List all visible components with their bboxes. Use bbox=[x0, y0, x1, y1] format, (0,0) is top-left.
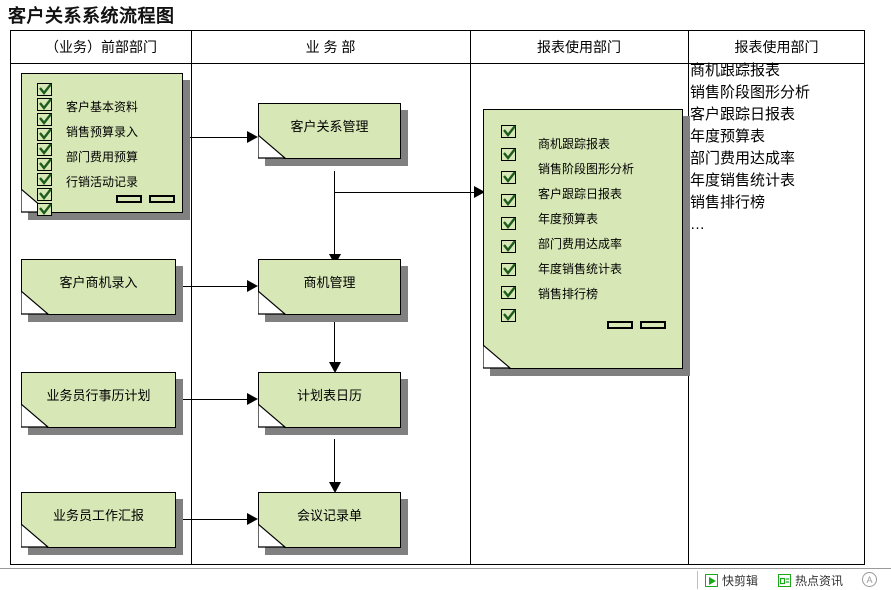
checkbox-checked[interactable] bbox=[37, 83, 52, 96]
report-item-label: 销售阶段图形分析 bbox=[538, 160, 634, 177]
report-list-column: 商机跟踪报表 销售阶段图形分析 客户跟踪日报表 年度预算表 部门费用达成率 年度… bbox=[690, 60, 810, 236]
arrowhead-icon bbox=[247, 131, 258, 143]
checkbox-checked[interactable] bbox=[501, 125, 516, 138]
report-item-label: 商机跟踪报表 bbox=[538, 135, 610, 152]
column-header-front-department: （业务）前部部门 bbox=[11, 31, 191, 63]
document-customer-relationship-management[interactable]: 客户关系管理 bbox=[258, 103, 401, 159]
circle-info-icon: A bbox=[862, 572, 877, 587]
document-mini-button[interactable] bbox=[607, 321, 633, 329]
checkbox-checked[interactable] bbox=[501, 217, 516, 230]
document-meeting-record[interactable]: 会议记录单 bbox=[258, 492, 401, 548]
document-button-group bbox=[607, 321, 666, 329]
document-label: 会议记录单 bbox=[258, 505, 401, 524]
checkbox-checked[interactable] bbox=[37, 173, 52, 186]
report-list-item: 商机跟踪报表 bbox=[690, 60, 810, 82]
taskbar-item-info[interactable]: A bbox=[862, 572, 881, 587]
connector-line bbox=[183, 399, 248, 400]
document-salesperson-calendar-plan[interactable]: 业务员行事历计划 bbox=[21, 372, 176, 428]
report-item-label: 年度预算表 bbox=[538, 210, 598, 227]
checkbox-checked[interactable] bbox=[37, 98, 52, 111]
document-opportunity-management[interactable]: 商机管理 bbox=[258, 259, 401, 315]
report-list-item: 销售阶段图形分析 bbox=[690, 82, 810, 104]
column-header-report-department-2: 报表使用部门 bbox=[688, 31, 865, 63]
arrowhead-icon bbox=[247, 280, 258, 292]
connector-line bbox=[334, 192, 483, 193]
column-divider-1 bbox=[191, 31, 192, 564]
taskbar: 快剪辑 热点资讯 A bbox=[0, 568, 891, 590]
report-list-item: 部门费用达成率 bbox=[690, 148, 810, 170]
news-icon bbox=[778, 574, 791, 587]
document-salesperson-work-report[interactable]: 业务员工作汇报 bbox=[21, 492, 176, 548]
document-button-group bbox=[116, 195, 175, 203]
checkbox-checked[interactable] bbox=[37, 188, 52, 201]
connector-line bbox=[183, 137, 248, 138]
checkbox-checked[interactable] bbox=[37, 128, 52, 141]
arrowhead-icon bbox=[247, 513, 258, 525]
taskbar-separator bbox=[697, 571, 698, 589]
checkbox-checked[interactable] bbox=[501, 240, 516, 253]
connector-line bbox=[183, 519, 248, 520]
report-item-label: 销售排行榜 bbox=[538, 285, 598, 302]
document-label: 商机管理 bbox=[258, 272, 401, 291]
checkbox-checked[interactable] bbox=[37, 203, 52, 216]
document-label: 业务员工作汇报 bbox=[21, 505, 176, 524]
checkbox-column bbox=[37, 83, 52, 218]
connector-line bbox=[334, 319, 335, 364]
connector-line bbox=[334, 439, 335, 484]
connector-line bbox=[334, 171, 335, 256]
column-divider-2 bbox=[470, 31, 471, 564]
connector-line bbox=[183, 286, 248, 287]
document-mini-button[interactable] bbox=[640, 321, 666, 329]
document-opportunity-entry[interactable]: 客户商机录入 bbox=[21, 259, 176, 315]
document-customer-data-checklist[interactable]: 客户基本资料 销售预算录入 部门费用预算 行销活动记录 bbox=[21, 73, 183, 213]
checkbox-checked[interactable] bbox=[501, 194, 516, 207]
checkbox-checked[interactable] bbox=[501, 171, 516, 184]
document-label: 客户商机录入 bbox=[21, 272, 176, 291]
arrowhead-icon bbox=[247, 393, 258, 405]
report-item-label: 客户跟踪日报表 bbox=[538, 185, 622, 202]
column-header-business-department: 业 务 部 bbox=[191, 31, 470, 63]
report-item-label: 部门费用达成率 bbox=[538, 235, 622, 252]
report-list-item: 年度预算表 bbox=[690, 126, 810, 148]
document-reports-checklist[interactable]: 商机跟踪报表 销售阶段图形分析 客户跟踪日报表 年度预算表 部门费用达成率 年度… bbox=[483, 109, 683, 369]
checkbox-column bbox=[501, 125, 516, 332]
report-list-item: 客户跟踪日报表 bbox=[690, 104, 810, 126]
taskbar-item-label: 快剪辑 bbox=[722, 572, 758, 589]
page-title: 客户关系系统流程图 bbox=[8, 2, 175, 28]
document-mini-button[interactable] bbox=[116, 195, 142, 203]
document-schedule-calendar[interactable]: 计划表日历 bbox=[258, 372, 401, 428]
document-label: 业务员行事历计划 bbox=[21, 385, 176, 404]
taskbar-item-label: 热点资讯 bbox=[795, 572, 843, 589]
checkbox-checked[interactable] bbox=[501, 148, 516, 161]
taskbar-item-quick-edit[interactable]: 快剪辑 bbox=[705, 572, 758, 589]
document-mini-button[interactable] bbox=[149, 195, 175, 203]
checkbox-checked[interactable] bbox=[501, 286, 516, 299]
taskbar-item-hot-news[interactable]: 热点资讯 bbox=[778, 572, 843, 589]
checklist-item-label: 行销活动记录 bbox=[66, 173, 138, 190]
checklist-item-label: 部门费用预算 bbox=[66, 148, 138, 165]
checkbox-checked[interactable] bbox=[37, 158, 52, 171]
document-label: 客户关系管理 bbox=[258, 116, 401, 135]
document-label: 计划表日历 bbox=[258, 385, 401, 404]
report-list-ellipsis: … bbox=[690, 214, 810, 236]
report-item-label: 年度销售统计表 bbox=[538, 260, 622, 277]
checkbox-checked[interactable] bbox=[501, 309, 516, 322]
checklist-item-label: 客户基本资料 bbox=[66, 98, 138, 115]
report-list-item: 销售排行榜 bbox=[690, 192, 810, 214]
column-header-report-department: 报表使用部门 bbox=[470, 31, 688, 63]
checkbox-checked[interactable] bbox=[501, 263, 516, 276]
play-icon bbox=[705, 574, 718, 587]
report-list-item: 年度销售统计表 bbox=[690, 170, 810, 192]
checklist-item-label: 销售预算录入 bbox=[66, 123, 138, 140]
checkbox-checked[interactable] bbox=[37, 143, 52, 156]
checkbox-checked[interactable] bbox=[37, 113, 52, 126]
